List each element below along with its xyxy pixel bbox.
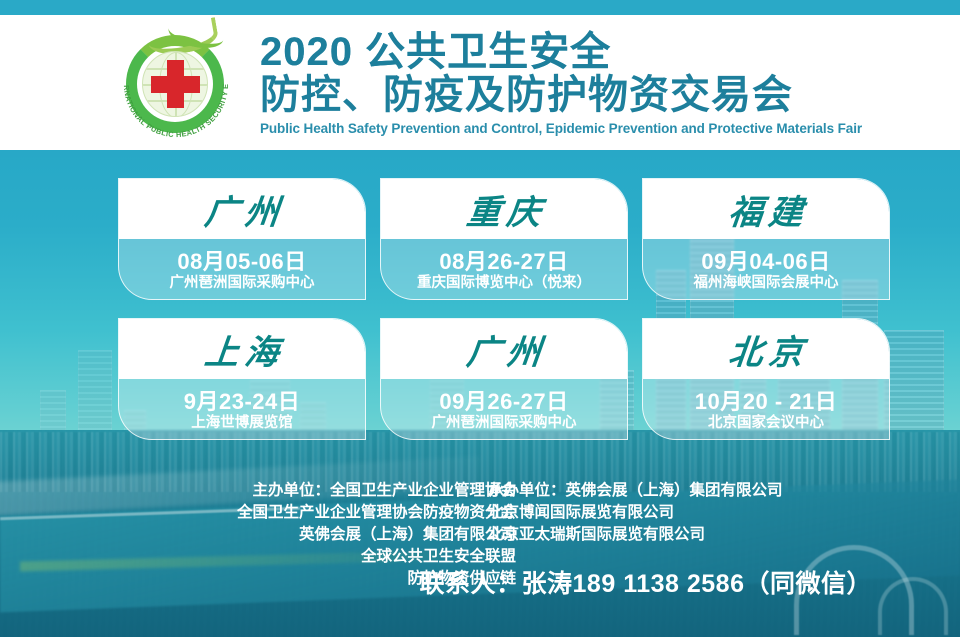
event-venue: 福州海峡国际会展中心 xyxy=(694,275,839,292)
event-card-city-banner: 北京 xyxy=(643,319,889,379)
event-card[interactable]: 重庆 08月26-27日 重庆国际博览中心（悦来） xyxy=(380,178,628,300)
co-organizer-line: 承办单位：英佛会展（上海）集团有限公司 xyxy=(488,480,868,502)
co-organizers-block: 承办单位：英佛会展（上海）集团有限公司 北京博闻国际展览有限公司 北京亚太瑞斯国… xyxy=(488,480,868,546)
event-date: 08月05-06日 xyxy=(177,250,306,274)
organizer-line: 英佛会展（上海）集团有限公司 xyxy=(96,524,516,546)
title-block: 2020 公共卫生安全 防控、防疫及防护物资交易会 Public Health … xyxy=(260,29,862,136)
expo-logo: INTERNATIONAL PUBLIC HEALTH SECURITY EXP… xyxy=(112,19,240,147)
co-organizer-line: 北京亚太瑞斯国际展览有限公司 xyxy=(488,524,868,546)
co-organizer-line: 北京博闻国际展览有限公司 xyxy=(488,502,868,524)
event-card[interactable]: 上海 9月23-24日 上海世博展览馆 xyxy=(118,318,366,440)
event-city-name: 重庆 xyxy=(458,185,549,234)
event-card-city-banner: 广州 xyxy=(119,179,365,239)
event-city-name: 广州 xyxy=(458,325,549,374)
event-card-details: 09月04-06日 福州海峡国际会展中心 xyxy=(643,239,889,299)
event-card-city-banner: 福建 xyxy=(643,179,889,239)
top-accent-strip xyxy=(0,0,960,15)
event-city-name: 北京 xyxy=(720,325,811,374)
event-venue: 北京国家会议中心 xyxy=(708,415,824,432)
event-card[interactable]: 福建 09月04-06日 福州海峡国际会展中心 xyxy=(642,178,890,300)
event-date: 10月20 - 21日 xyxy=(695,390,837,414)
event-date: 09月26-27日 xyxy=(439,390,568,414)
event-date: 09月04-06日 xyxy=(701,250,830,274)
event-card-city-banner: 重庆 xyxy=(381,179,627,239)
event-card[interactable]: 广州 08月05-06日 广州琶洲国际采购中心 xyxy=(118,178,366,300)
event-date: 9月23-24日 xyxy=(184,390,301,414)
organizer-line: 全国卫生产业企业管理协会防疫物资分会 xyxy=(96,502,516,524)
event-card-grid: 广州 08月05-06日 广州琶洲国际采购中心 重庆 08月26-27日 重庆国… xyxy=(118,178,898,440)
contact-line: 联系人：张涛189 1138 2586（同微信） xyxy=(420,564,872,600)
event-card-details: 08月05-06日 广州琶洲国际采购中心 xyxy=(119,239,365,299)
title-line-2: 防控、防疫及防护物资交易会 xyxy=(260,74,862,117)
event-venue: 上海世博展览馆 xyxy=(191,415,293,432)
logo-arc-text-value: INTERNATIONAL PUBLIC HEALTH SECURITY EXP… xyxy=(112,19,230,139)
event-venue: 重庆国际博览中心（悦来） xyxy=(417,275,591,292)
event-card[interactable]: 北京 10月20 - 21日 北京国家会议中心 xyxy=(642,318,890,440)
event-card-details: 9月23-24日 上海世博展览馆 xyxy=(119,379,365,439)
event-city-name: 广州 xyxy=(196,185,287,234)
event-card-city-banner: 上海 xyxy=(119,319,365,379)
logo-arc-text: INTERNATIONAL PUBLIC HEALTH SECURITY EXP… xyxy=(112,19,240,147)
header-bar: INTERNATIONAL PUBLIC HEALTH SECURITY EXP… xyxy=(0,15,960,150)
svg-text:INTERNATIONAL PUBLIC HEALTH SE: INTERNATIONAL PUBLIC HEALTH SECURITY EXP… xyxy=(112,19,230,139)
event-card-details: 08月26-27日 重庆国际博览中心（悦来） xyxy=(381,239,627,299)
event-city-name: 上海 xyxy=(196,325,287,374)
title-english-subtitle: Public Health Safety Prevention and Cont… xyxy=(260,121,862,136)
event-city-name: 福建 xyxy=(720,185,811,234)
event-venue: 广州琶洲国际采购中心 xyxy=(170,275,315,292)
event-card-city-banner: 广州 xyxy=(381,319,627,379)
event-card-details: 10月20 - 21日 北京国家会议中心 xyxy=(643,379,889,439)
event-date: 08月26-27日 xyxy=(439,250,568,274)
poster-root: INTERNATIONAL PUBLIC HEALTH SECURITY EXP… xyxy=(0,0,960,637)
organizer-line: 主办单位：全国卫生产业企业管理协会 xyxy=(96,480,516,502)
event-card[interactable]: 广州 09月26-27日 广州琶洲国际采购中心 xyxy=(380,318,628,440)
event-venue: 广州琶洲国际采购中心 xyxy=(432,415,577,432)
title-line-1: 2020 公共卫生安全 xyxy=(260,31,862,74)
event-card-details: 09月26-27日 广州琶洲国际采购中心 xyxy=(381,379,627,439)
